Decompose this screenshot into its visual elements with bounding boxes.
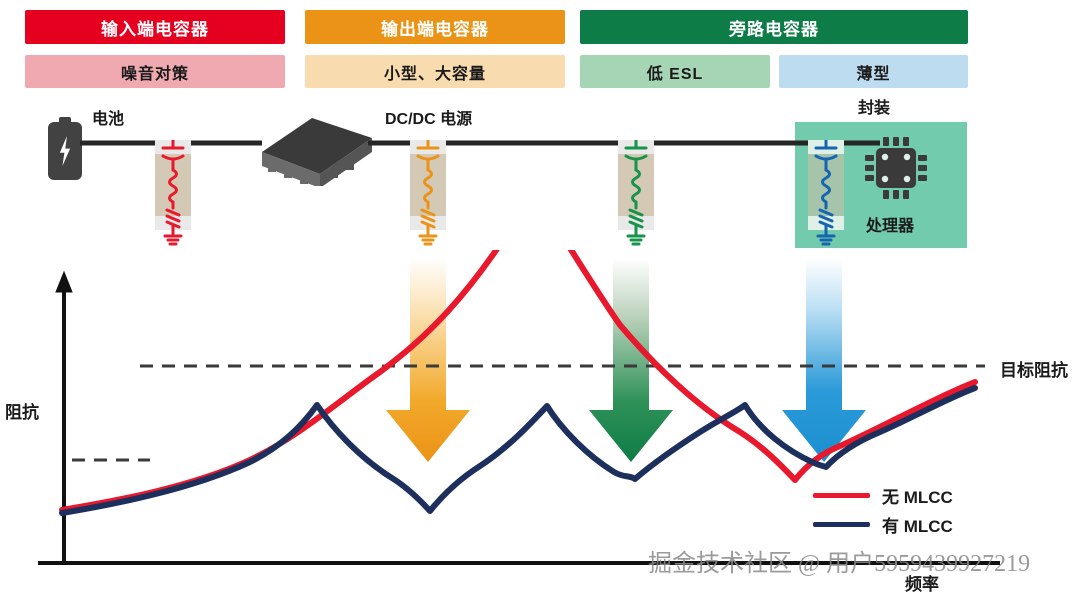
watermark-text: 掘金技术社区 @ 用户5959439927219 [648,543,1030,578]
package-capacitor-arrow [782,258,866,462]
y-axis-label: 阻抗 [5,398,39,423]
impedance-chart: 阻抗 频率 目标阻抗 无 MLCC 有 MLCC [0,250,1080,589]
dcdc-converter-label: DC/DC 电源 [385,105,472,129]
battery-label: 电池 [92,105,124,129]
bypass-capacitor-arrow [589,258,673,462]
diagram-canvas: 输入端电容器 噪音对策 输出端电容器 小型、大容量 旁路电容器 低 ESL 薄型 [0,0,1080,589]
legend-label-with-mlcc: 有 MLCC [882,512,953,537]
circuit-schematic: 电池 DC/DC 电源 封装 处理器 [0,0,1080,260]
legend-label-without-mlcc: 无 MLCC [882,483,953,508]
package-label: 封装 [858,94,890,118]
legend-swatch-with-mlcc [813,522,870,527]
target-impedance-label: 目标阻抗 [1000,356,1068,381]
processor-label: 处理器 [866,212,914,236]
processor-chip-icon [862,134,930,202]
legend-swatch-without-mlcc [813,493,870,498]
